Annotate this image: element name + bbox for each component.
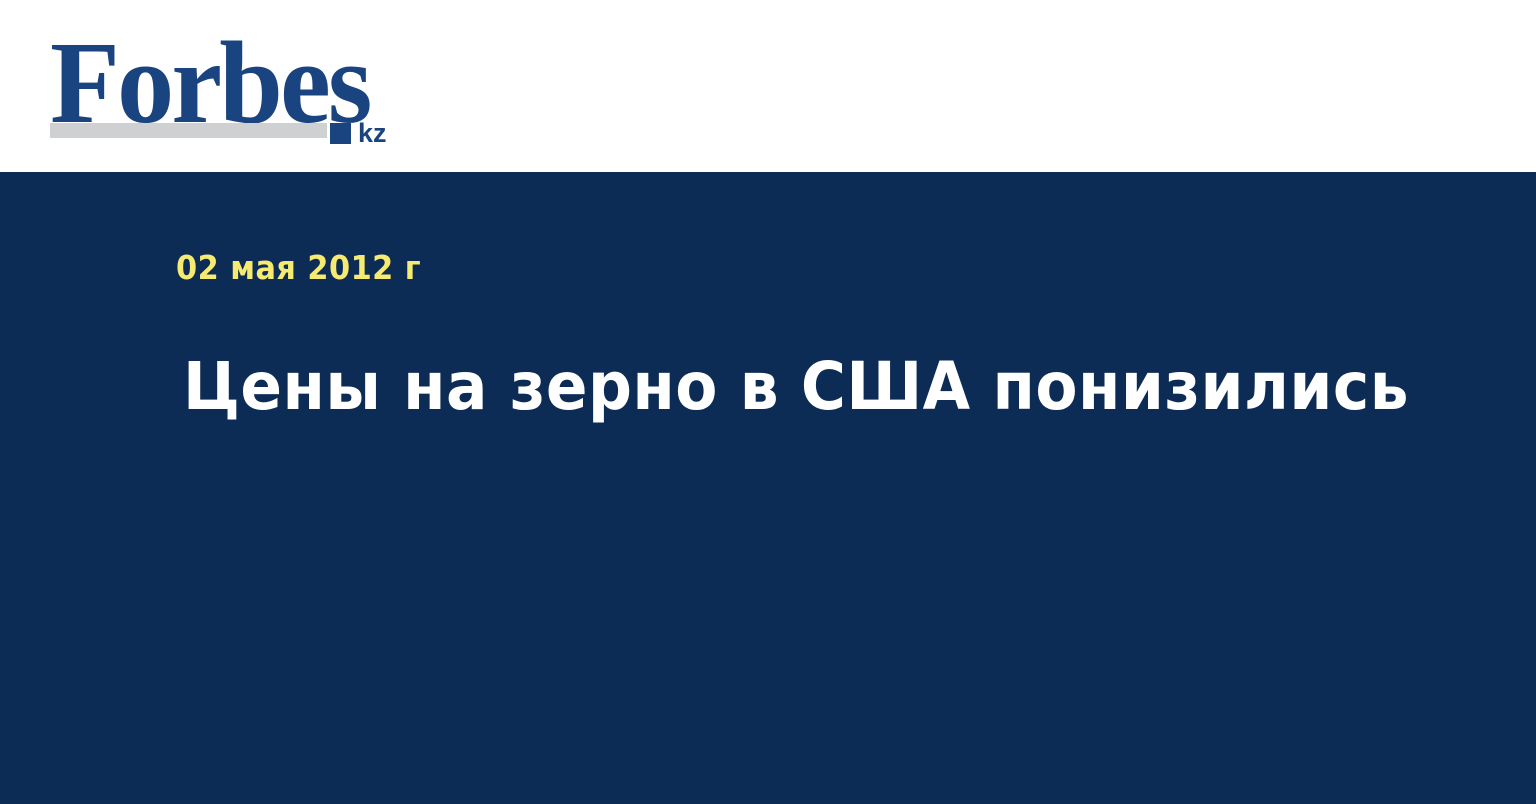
gray-underline-bar-icon	[50, 123, 327, 138]
navy-square-mark-icon	[330, 123, 351, 144]
logo-domain-suffix: kz	[358, 120, 387, 147]
article-title: Цены на зерно в США понизились	[183, 347, 1409, 427]
article-card-page: Forbes kz 02 мая 2012 г Цены на зерно в …	[0, 0, 1536, 804]
logo-kz-group: kz	[330, 120, 387, 147]
site-header: Forbes kz	[0, 0, 1536, 172]
article-date: 02 мая 2012 г	[176, 248, 421, 288]
forbes-kz-logo[interactable]: Forbes kz	[50, 24, 410, 148]
